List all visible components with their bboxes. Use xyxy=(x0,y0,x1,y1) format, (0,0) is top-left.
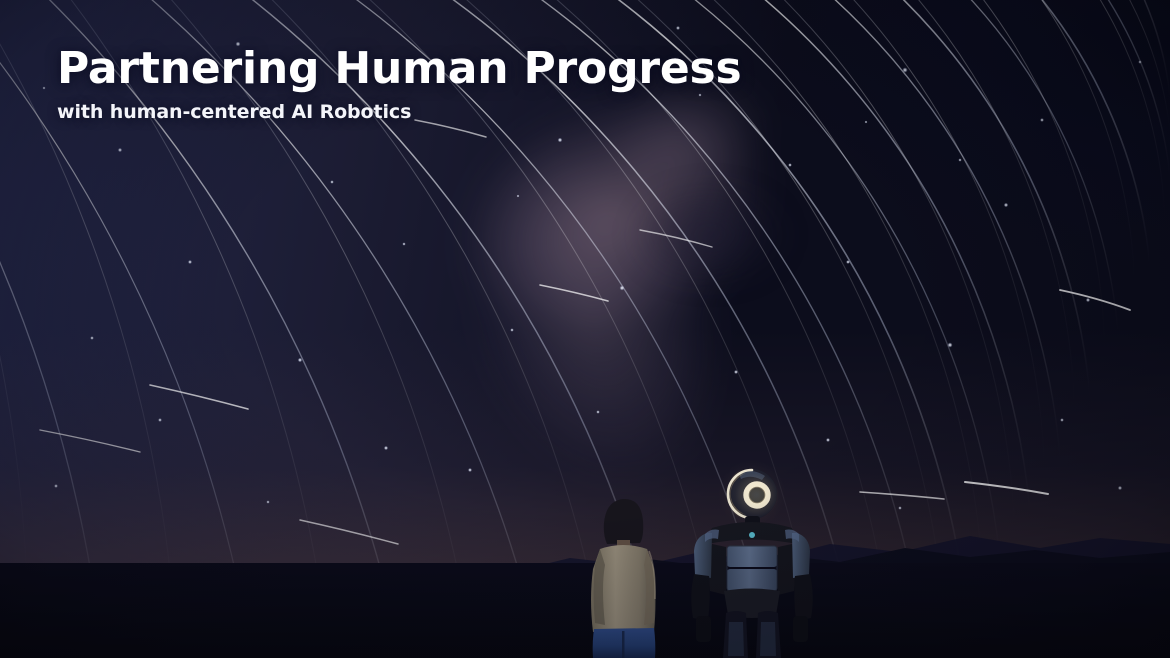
page-title: Partnering Human Progress xyxy=(57,44,742,93)
headline-block: Partnering Human Progress with human-cen… xyxy=(57,44,742,123)
person-figure xyxy=(591,499,656,658)
slide-root: Partnering Human Progress with human-cen… xyxy=(0,0,1170,658)
page-subtitle: with human-centered AI Robotics xyxy=(57,101,742,123)
robot-figure xyxy=(691,460,813,658)
